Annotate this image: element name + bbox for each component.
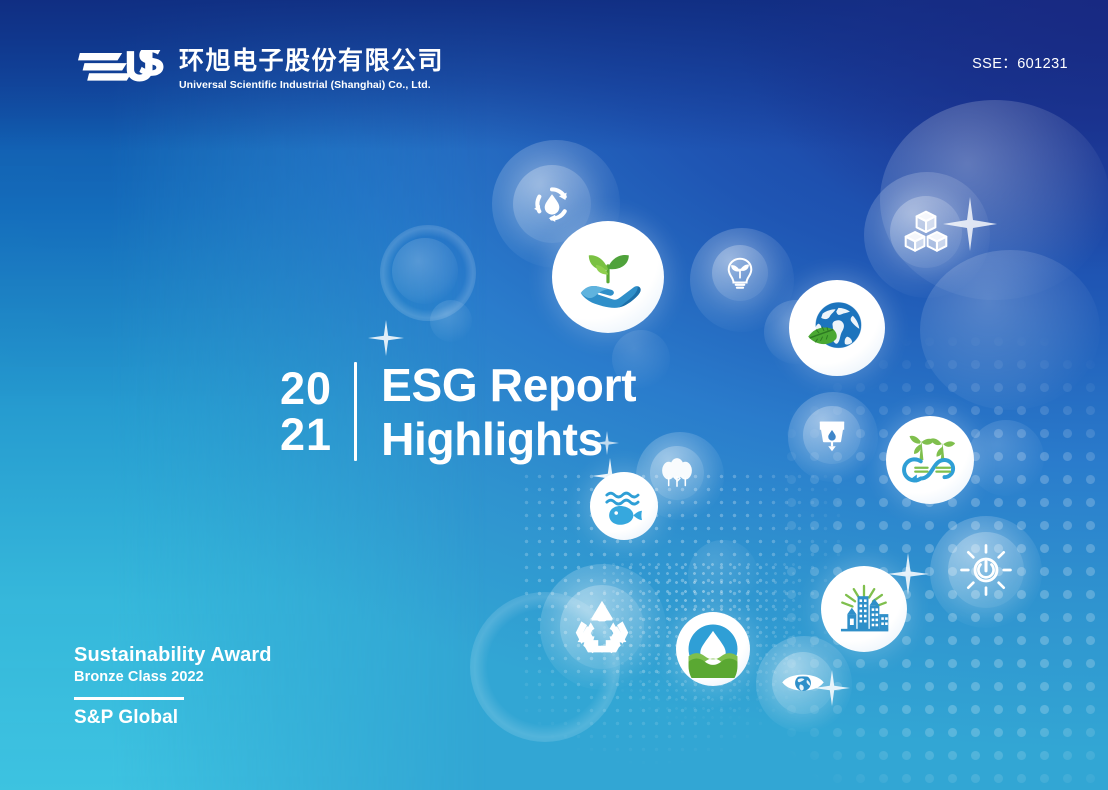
water-filter-icon bbox=[803, 406, 861, 464]
award-title: Sustainability Award bbox=[74, 644, 272, 667]
water-drop-waves-icon bbox=[676, 612, 750, 686]
report-year-bottom: 21 bbox=[280, 412, 332, 458]
report-year: 20 21 bbox=[280, 358, 354, 467]
company-name-cn: 环旭电子股份有限公司 bbox=[179, 46, 444, 76]
power-sun-icon bbox=[948, 532, 1024, 608]
hand-sprout-icon bbox=[552, 221, 664, 333]
company-name-en: Universal Scientific Industrial (Shangha… bbox=[179, 79, 444, 91]
fish-waves-icon bbox=[590, 472, 658, 540]
eco-city-icon bbox=[821, 566, 907, 652]
stock-listing-code: SSE：601231 bbox=[972, 52, 1068, 73]
eye-globe-icon bbox=[772, 652, 834, 714]
page-title: ESG Report bbox=[381, 358, 636, 412]
forest-trees-icon bbox=[650, 446, 704, 500]
award-divider bbox=[74, 697, 184, 700]
report-year-top: 20 bbox=[280, 366, 332, 412]
lightbulb-leaf-icon bbox=[712, 245, 768, 301]
report-title-block: 20 21 ESG Report Highlights bbox=[280, 358, 636, 467]
usi-logo-mark bbox=[78, 50, 170, 90]
award-issuer: S&P Global bbox=[74, 707, 272, 729]
wind-turbine-infinity-icon bbox=[886, 416, 974, 504]
sustainability-award-badge: Sustainability Award Bronze Class 2022 S… bbox=[74, 644, 272, 729]
cubes-3d-icon bbox=[890, 196, 962, 268]
globe-leaf-icon bbox=[789, 280, 885, 376]
recycle-icon bbox=[560, 585, 644, 669]
page-subtitle: Highlights bbox=[381, 412, 636, 466]
esg-report-cover: 环旭电子股份有限公司 Universal Scientific Industri… bbox=[0, 0, 1108, 790]
award-class: Bronze Class 2022 bbox=[74, 669, 272, 685]
company-logo: 环旭电子股份有限公司 Universal Scientific Industri… bbox=[78, 46, 444, 91]
